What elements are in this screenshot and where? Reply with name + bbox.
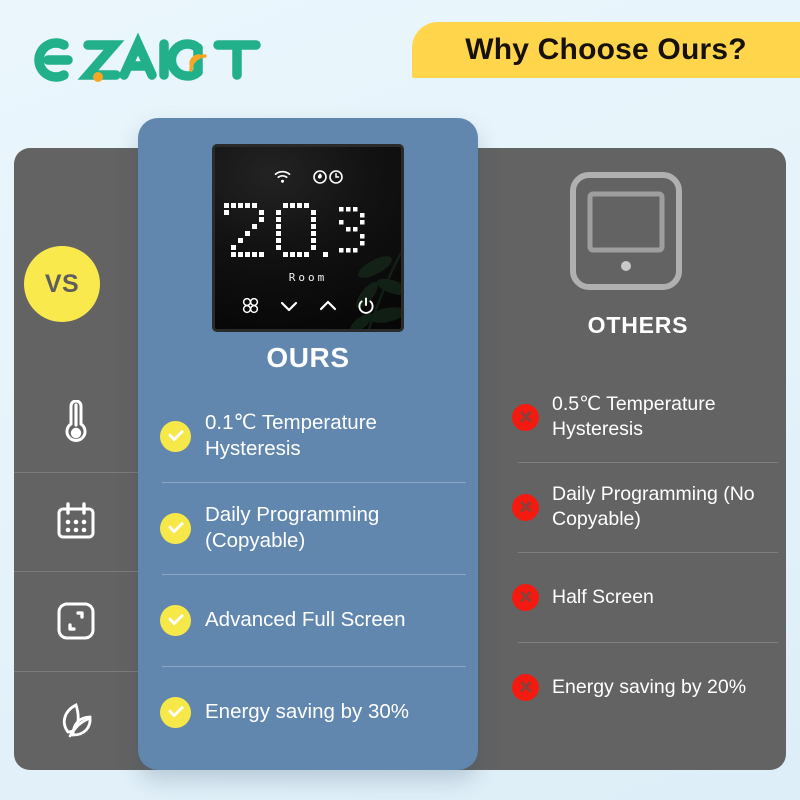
check-icon (160, 513, 191, 544)
device-room-label: Room (215, 271, 401, 284)
flame-icon (314, 171, 326, 183)
ours-feature-list: 0.1℃ Temperature Hysteresis Daily Progra… (160, 390, 460, 758)
category-row-screen (14, 571, 138, 671)
others-feature-row: Daily Programming (No Copyable) (512, 462, 774, 552)
category-row-temperature (14, 372, 138, 472)
vs-label: VS (45, 270, 79, 299)
others-feature-label: 0.5℃ Temperature Hysteresis (552, 392, 764, 442)
cross-icon (512, 584, 539, 611)
temperature-display (223, 197, 393, 269)
check-icon (160, 605, 191, 636)
others-feature-label: Energy saving by 20% (552, 675, 746, 700)
others-feature-label: Daily Programming (No Copyable) (552, 482, 764, 532)
brand-logo (28, 28, 268, 90)
clock-icon (330, 171, 342, 183)
chevron-down-icon[interactable] (279, 299, 299, 313)
thermostat-device: Room (212, 144, 404, 332)
others-feature-row: Energy saving by 20% (512, 642, 774, 732)
thermometer-icon (59, 400, 93, 444)
ours-feature-label: Energy saving by 30% (205, 699, 409, 725)
check-icon (160, 697, 191, 728)
cross-icon (512, 404, 539, 431)
why-choose-banner: Why Choose Ours? (412, 22, 800, 78)
cross-icon (512, 674, 539, 701)
chevron-up-icon[interactable] (318, 299, 338, 313)
others-feature-row: 0.5℃ Temperature Hysteresis (512, 372, 774, 462)
calendar-icon (55, 501, 97, 541)
wifi-icon (274, 170, 291, 184)
others-title: OTHERS (500, 312, 776, 339)
others-feature-row: Half Screen (512, 552, 774, 642)
logo-mark (28, 28, 268, 90)
power-icon[interactable] (357, 297, 375, 315)
flame-clock-icons (313, 169, 343, 184)
ours-feature-row: Daily Programming (Copyable) (160, 482, 460, 574)
half-screen-thermostat-icon (564, 168, 688, 302)
cross-icon (512, 494, 539, 521)
ours-feature-label: Advanced Full Screen (205, 607, 406, 633)
others-feature-list: 0.5℃ Temperature Hysteresis Daily Progra… (512, 372, 774, 732)
others-feature-label: Half Screen (552, 585, 654, 610)
category-icon-column (14, 372, 138, 770)
fullscreen-icon (55, 600, 97, 642)
check-icon (160, 421, 191, 452)
ours-card: Room OURS 0.1℃ Temperature Hy (138, 118, 478, 770)
others-device-illustration (556, 160, 696, 310)
ours-feature-label: Daily Programming (Copyable) (205, 502, 454, 554)
ours-title: OURS (138, 342, 478, 374)
ours-feature-row: Advanced Full Screen (160, 574, 460, 666)
others-column: OTHERS 0.5℃ Temperature Hysteresis Daily… (500, 160, 786, 760)
ours-feature-row: Energy saving by 30% (160, 666, 460, 758)
device-status-icons (215, 169, 401, 184)
category-row-programming (14, 472, 138, 572)
ours-feature-row: 0.1℃ Temperature Hysteresis (160, 390, 460, 482)
device-control-bar (215, 296, 401, 315)
temperature-readout (215, 197, 401, 274)
mode-icon[interactable] (241, 296, 260, 315)
banner-title: Why Choose Ours? (465, 33, 747, 67)
leaf-icon (54, 699, 98, 741)
ours-feature-label: 0.1℃ Temperature Hysteresis (205, 410, 454, 462)
category-row-energy (14, 671, 138, 771)
vs-badge: VS (24, 246, 100, 322)
